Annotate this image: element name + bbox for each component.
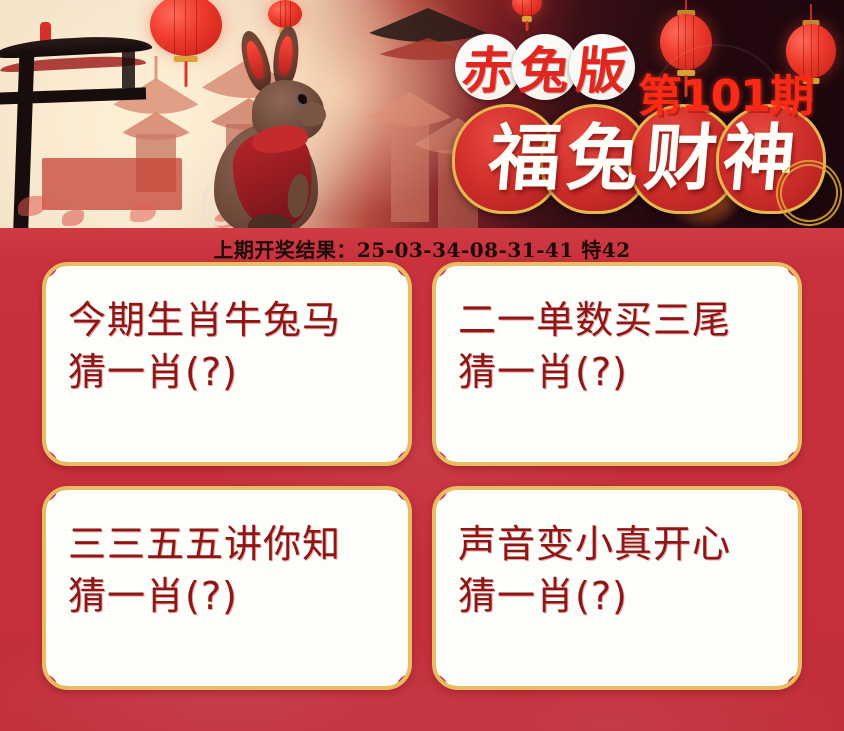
lantern-icon <box>512 0 542 16</box>
badge-circle: 版 <box>569 34 635 100</box>
rabbit-illustration <box>196 28 356 228</box>
riddle-line-2: 猜一肖(?) <box>68 346 388 398</box>
riddle-line-2: 猜一肖(?) <box>68 570 388 622</box>
poster-root: 赤 兔 版 第101期 福 兔 财 神 上期开 <box>0 0 844 731</box>
riddle-line-2: 猜一肖(?) <box>458 346 778 398</box>
riddle-card-grid: 今期生肖牛兔马 猜一肖(?) 二一单数买三尾 猜一肖(?) 三三五五讲你知 猜一… <box>0 262 844 690</box>
rabbit-eye <box>296 94 307 106</box>
lantern-icon <box>268 0 302 28</box>
title-char: 兔 <box>564 122 642 194</box>
issue-number: 第101期 <box>638 60 813 124</box>
title-char: 福 <box>486 122 564 194</box>
riddle-card[interactable]: 今期生肖牛兔马 猜一肖(?) <box>42 262 412 466</box>
hero-banner: 赤 兔 版 第101期 福 兔 财 神 <box>0 0 844 228</box>
title-char: 财 <box>642 122 720 194</box>
edition-badge: 赤 兔 版 <box>455 34 635 100</box>
last-draw-result-text: 上期开奖结果：25-03-34-08-31-41 特42 <box>213 234 630 263</box>
banner-plate <box>42 158 182 210</box>
badge-char: 版 <box>566 34 639 100</box>
riddle-card[interactable]: 二一单数买三尾 猜一肖(?) <box>432 262 802 466</box>
riddle-card[interactable]: 三三五五讲你知 猜一肖(?) <box>42 486 412 690</box>
riddle-line-2: 猜一肖(?) <box>458 570 778 622</box>
riddle-line-1: 声音变小真开心 <box>458 518 778 570</box>
riddle-card[interactable]: 声音变小真开心 猜一肖(?) <box>432 486 802 690</box>
riddle-line-1: 二一单数买三尾 <box>458 294 778 346</box>
riddle-line-1: 今期生肖牛兔马 <box>68 294 388 346</box>
riddle-line-1: 三三五五讲你知 <box>68 518 388 570</box>
